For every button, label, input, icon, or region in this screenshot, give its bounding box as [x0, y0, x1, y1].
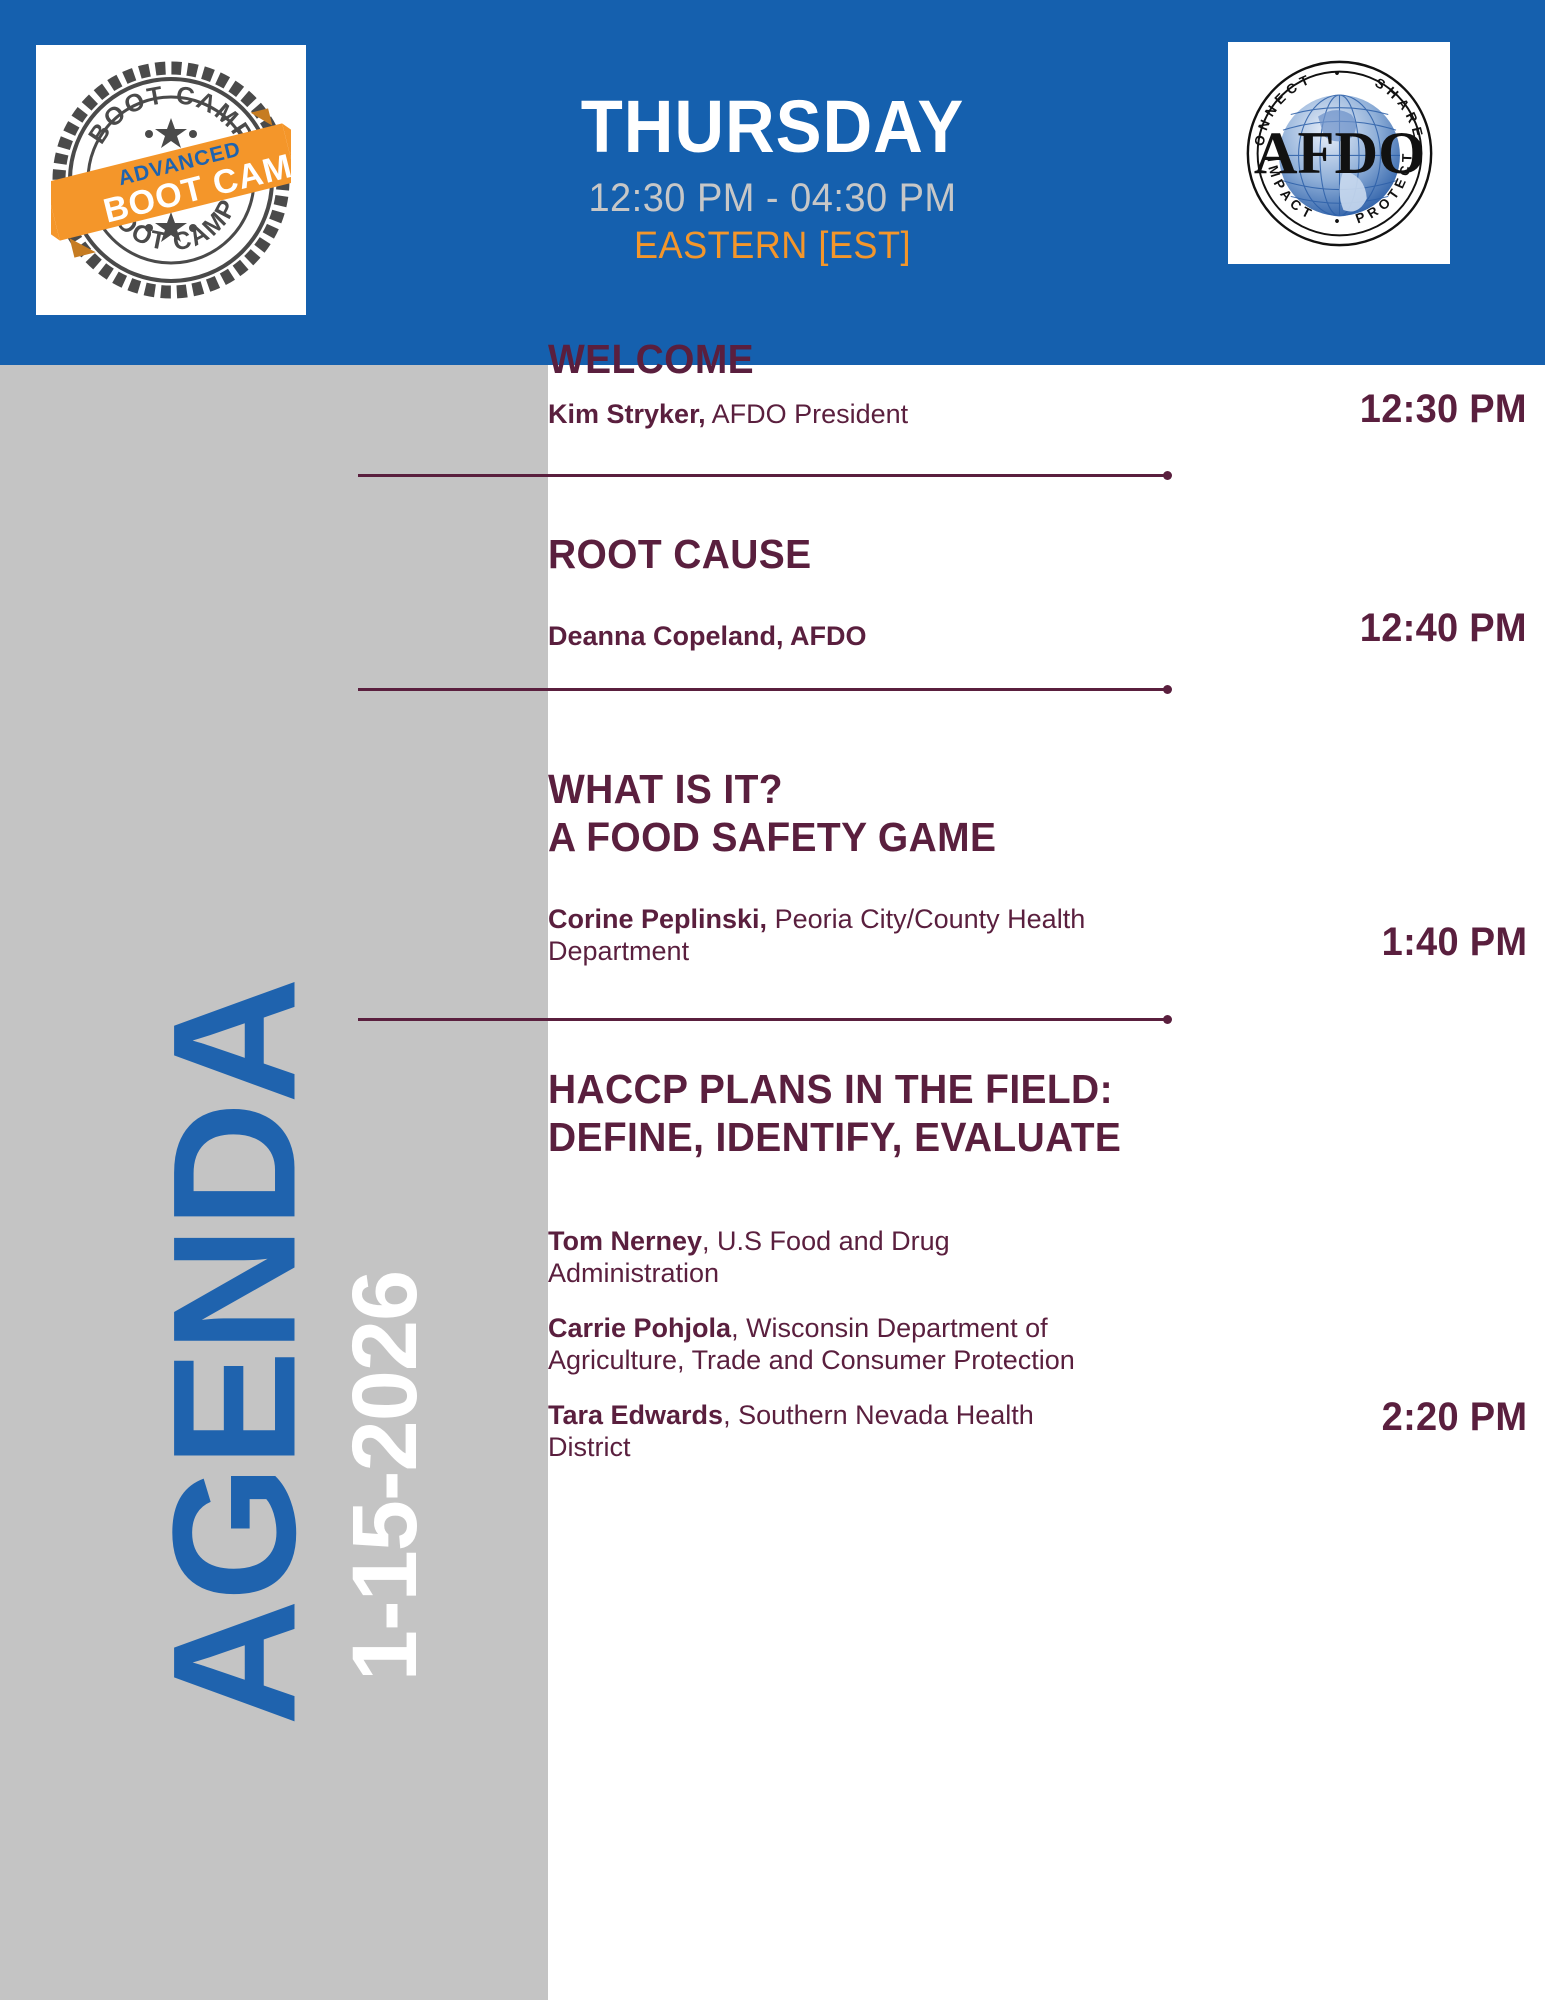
- day-title: THURSDAY: [361, 90, 1184, 164]
- speaker-org: AFDO President: [706, 399, 909, 429]
- speaker-entry: Tara Edwards, Southern Nevada Health Dis…: [548, 1399, 1108, 1464]
- speaker-entry: Deanna Copeland, AFDO: [548, 620, 1158, 652]
- agenda-item-speakers: Deanna Copeland, AFDO: [548, 620, 1158, 652]
- boot-camp-logo-box: BOOT CAMP BOOT CAMP: [36, 45, 306, 315]
- agenda-item-time: 1:40 PM: [1381, 920, 1527, 965]
- speaker-name: Tom Nerney: [548, 1226, 702, 1256]
- agenda-item-title: ROOT CAUSE: [548, 530, 811, 578]
- agenda-item-time: 12:30 PM: [1360, 387, 1527, 432]
- agenda-item-title: WHAT IS IT? A FOOD SAFETY GAME: [548, 765, 996, 862]
- svg-text:•: •: [1334, 213, 1344, 228]
- speaker-name: Deanna Copeland, AFDO: [548, 621, 867, 651]
- speaker-name: Corine Peplinski,: [548, 904, 767, 934]
- timezone-label: EASTERN [EST]: [352, 225, 1193, 268]
- page-header: BOOT CAMP BOOT CAMP: [0, 0, 1545, 365]
- agenda-item-title: HACCP PLANS IN THE FIELD: DEFINE, IDENTI…: [548, 1065, 1121, 1162]
- time-range: 12:30 PM - 04:30 PM: [352, 176, 1193, 221]
- agenda-divider-3: [358, 1018, 1168, 1021]
- agenda-sidebar: AGENDA 1-15-2026: [0, 365, 548, 2000]
- advanced-boot-camp-stamp-icon: BOOT CAMP BOOT CAMP: [51, 60, 291, 300]
- afdo-globe-icon: CONNECT • SHARE IMPACT • PROTECT AFDO: [1242, 56, 1437, 251]
- agenda-divider-1: [358, 474, 1168, 477]
- header-title-block: THURSDAY 12:30 PM - 04:30 PM EASTERN [ES…: [330, 90, 1215, 268]
- speaker-entry: Corine Peplinski, Peoria City/County Hea…: [548, 903, 1158, 968]
- speaker-entry: Kim Stryker, AFDO President: [548, 398, 1158, 430]
- agenda-item-time: 12:40 PM: [1360, 606, 1527, 651]
- agenda-item-speakers: Corine Peplinski, Peoria City/County Hea…: [548, 903, 1158, 968]
- agenda-divider-2: [358, 688, 1168, 691]
- speaker-entry: Tom Nerney, U.S Food and Drug Administra…: [548, 1225, 1108, 1290]
- svg-text:•: •: [1334, 65, 1344, 80]
- speaker-name: Kim Stryker,: [548, 399, 706, 429]
- agenda-item-time: 2:20 PM: [1381, 1395, 1527, 1440]
- sidebar-agenda-date: 1-15-2026: [339, 1126, 431, 1826]
- svg-text:AFDO: AFDO: [1253, 120, 1424, 187]
- afdo-logo-box: CONNECT • SHARE IMPACT • PROTECT AFDO: [1228, 42, 1450, 264]
- agenda-item-title: WELCOME: [548, 335, 754, 383]
- agenda-item-speakers: Kim Stryker, AFDO President: [548, 398, 1158, 430]
- speaker-name: Tara Edwards: [548, 1400, 723, 1430]
- agenda-item-speakers: Tom Nerney, U.S Food and Drug Administra…: [548, 1225, 1108, 1463]
- speaker-name: Carrie Pohjola: [548, 1313, 731, 1343]
- speaker-entry: Carrie Pohjola, Wisconsin Department of …: [548, 1312, 1108, 1377]
- sidebar-agenda-title: AGENDA: [148, 853, 323, 1853]
- agenda-list: WELCOME Kim Stryker, AFDO President 12:3…: [548, 365, 1545, 2000]
